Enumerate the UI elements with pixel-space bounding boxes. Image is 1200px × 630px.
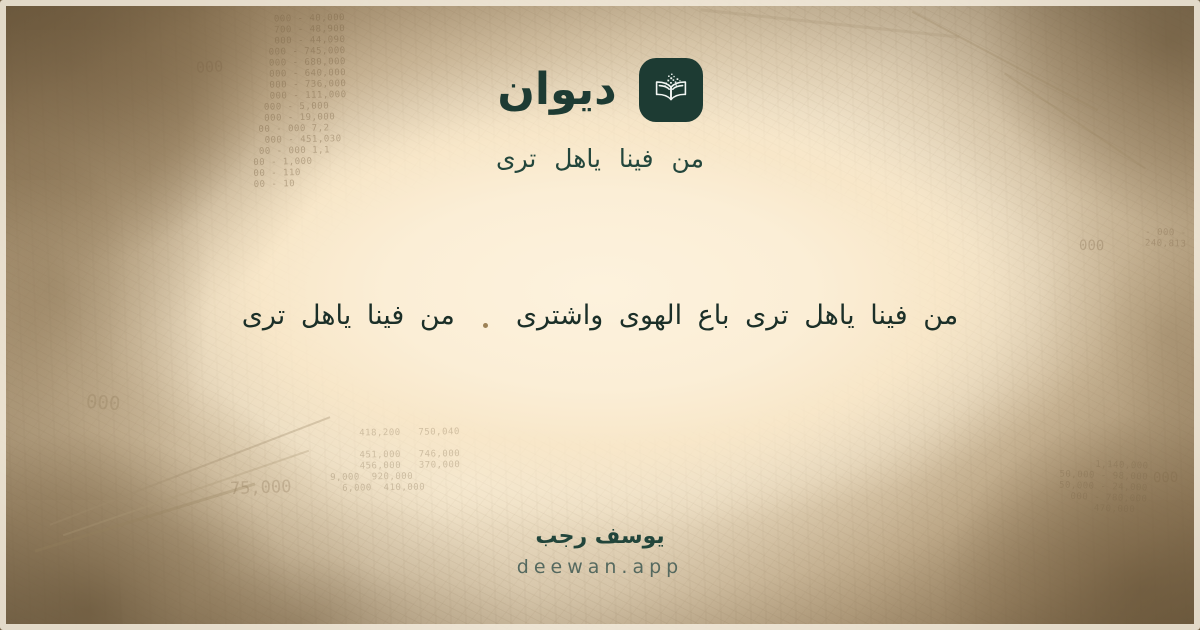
verse-hemistich-right: من فينا ياهل ترى <box>212 300 455 331</box>
card-content: ديوان من فينا ياهل ترى من فينا ياهل ترى … <box>0 0 1200 630</box>
verse-separator-dot <box>483 323 488 328</box>
poem-title: من فينا ياهل ترى <box>496 144 704 173</box>
share-card: 40,000 - 000 48,900 - 700 44,090 - 000 7… <box>0 0 1200 630</box>
verse-line: من فينا ياهل ترى باع الهوى واشترى من فين… <box>0 300 1200 331</box>
open-book-sparkles-icon <box>639 58 703 122</box>
site-url: deewan.app <box>517 556 683 578</box>
brand-header: ديوان <box>497 58 702 122</box>
poem-author: يوسف رجب <box>535 524 664 549</box>
card-footer: يوسف رجب deewan.app <box>0 524 1200 578</box>
brand-title: ديوان <box>497 68 616 112</box>
verse-hemistich-left: من فينا ياهل ترى باع الهوى واشترى <box>516 300 988 331</box>
